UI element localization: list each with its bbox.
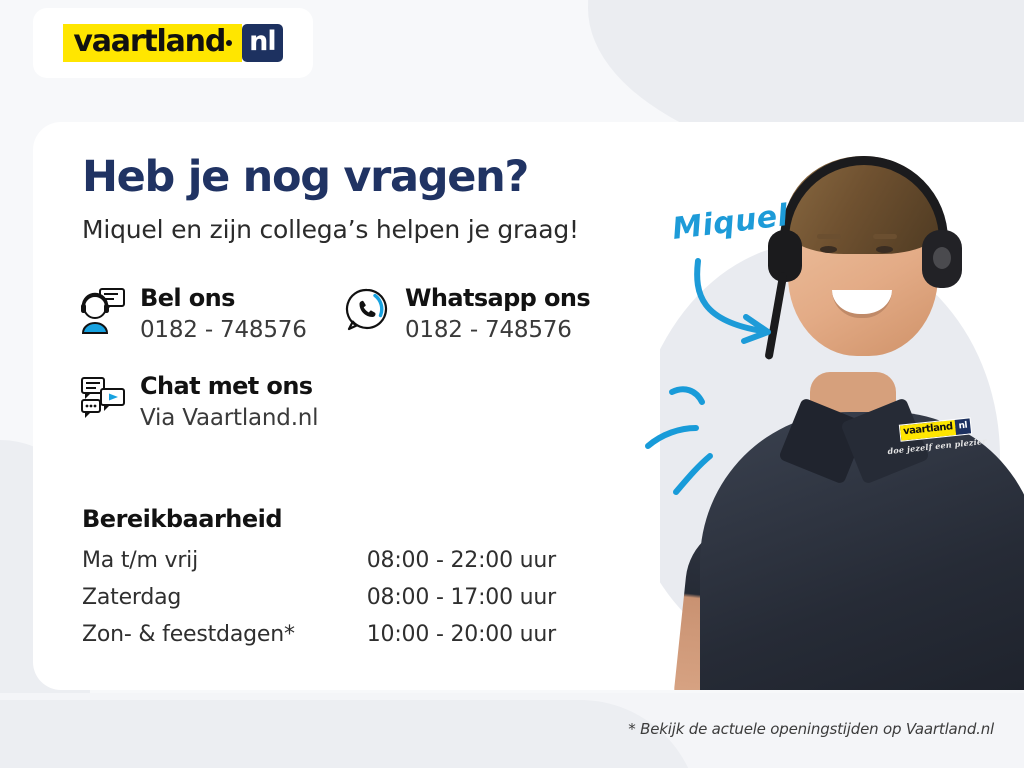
availability-day: Zaterdag: [82, 585, 367, 622]
availability-hours: 08:00 - 22:00 uur: [367, 548, 556, 585]
contact-whatsapp-text: Whatsapp ons 0182 - 748576: [405, 285, 590, 343]
logo-tld: nl: [249, 28, 275, 55]
table-row: Zon- & feestdagen* 10:00 - 20:00 uur: [82, 622, 556, 659]
headset-earcup-right-icon: [922, 230, 962, 288]
headset-person-icon: [80, 287, 126, 335]
availability-day: Ma t/m vrij: [82, 548, 367, 585]
availability-day: Zon- & feestdagen*: [82, 622, 367, 659]
logo-blue-block: nl: [242, 24, 282, 62]
polo-logo-yellow-block: vaartland: [900, 419, 957, 440]
contact-method-chat[interactable]: Chat met ons Via Vaartland.nl: [80, 373, 318, 431]
logo-wrap: vaartland nl: [63, 24, 282, 62]
chat-bubbles-icon: [80, 375, 126, 423]
contact-whatsapp-number: 0182 - 748576: [405, 317, 590, 343]
contact-chat-text: Chat met ons Via Vaartland.nl: [140, 373, 318, 431]
availability-table: Ma t/m vrij 08:00 - 22:00 uur Zaterdag 0…: [82, 548, 556, 659]
logo-wordmark: vaartland: [73, 27, 225, 57]
contact-whatsapp-title: Whatsapp ons: [405, 285, 590, 313]
curved-arrow-icon: [690, 255, 800, 355]
table-row: Ma t/m vrij 08:00 - 22:00 uur: [82, 548, 556, 585]
polo-logo-tld: nl: [958, 421, 967, 431]
contact-method-call[interactable]: Bel ons 0182 - 748576: [80, 285, 307, 343]
table-row: Zaterdag 08:00 - 17:00 uur: [82, 585, 556, 622]
footnote-text: * Bekijk de actuele openingstijden op Va…: [628, 720, 994, 738]
contact-method-whatsapp[interactable]: Whatsapp ons 0182 - 748576: [345, 285, 590, 343]
contact-chat-title: Chat met ons: [140, 373, 318, 401]
polo-logo-blue-block: nl: [955, 418, 971, 434]
availability-hours: 10:00 - 20:00 uur: [367, 622, 556, 659]
contact-call-text: Bel ons 0182 - 748576: [140, 285, 307, 343]
brand-logo[interactable]: vaartland nl: [33, 8, 313, 78]
background-blob-bottom-left: [0, 700, 700, 768]
availability-heading: Bereikbaarheid: [82, 505, 282, 533]
availability-hours: 08:00 - 17:00 uur: [367, 585, 556, 622]
logo-yellow-block: vaartland: [63, 24, 242, 62]
logo-separator-dot: [226, 40, 232, 46]
contact-call-number: 0182 - 748576: [140, 317, 307, 343]
page-stage: vaartland nl va: [0, 0, 1024, 768]
motion-dashes-icon: [640, 360, 750, 505]
page-title: Heb je nog vragen?: [82, 152, 528, 202]
page-subtitle: Miquel en zijn collega’s helpen je graag…: [82, 215, 579, 244]
contact-call-title: Bel ons: [140, 285, 307, 313]
whatsapp-icon: [345, 287, 391, 335]
contact-chat-value: Via Vaartland.nl: [140, 405, 318, 431]
polo-logo-wordmark: vaartland: [903, 422, 953, 437]
